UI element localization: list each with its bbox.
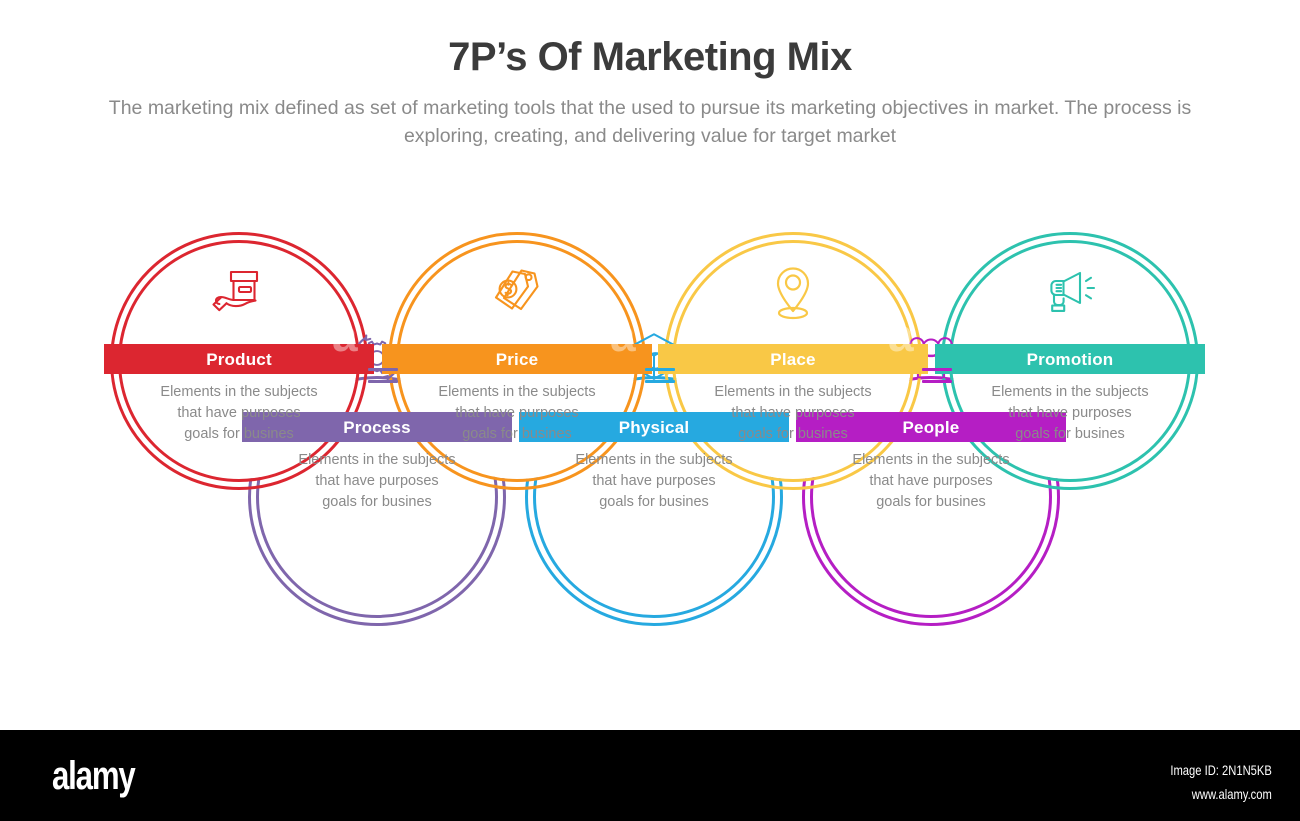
image-id-text: Image ID: 2N1N5KB bbox=[1171, 758, 1272, 782]
footer-meta: Image ID: 2N1N5KB www.alamy.com bbox=[1171, 758, 1272, 806]
node-description-line: goals for busines bbox=[276, 492, 478, 513]
node-description-line: that have purposes bbox=[969, 403, 1171, 424]
infographic-canvas: 7P’s Of Marketing Mix The marketing mix … bbox=[0, 0, 1300, 730]
connector-physical bbox=[645, 368, 675, 388]
node-banner-place[interactable]: Place bbox=[658, 344, 928, 374]
node-description-line: goals for busines bbox=[138, 424, 340, 445]
node-description-place: Elements in the subjectsthat have purpos… bbox=[692, 382, 894, 445]
hand-holding-box-icon bbox=[203, 258, 275, 330]
node-promotion[interactable]: PromotionElements in the subjectsthat ha… bbox=[941, 232, 1199, 490]
node-label-promotion: Promotion bbox=[1027, 351, 1114, 368]
node-label-place: Place bbox=[770, 351, 815, 368]
page-subtitle: The marketing mix defined as set of mark… bbox=[65, 94, 1235, 150]
megaphone-icon bbox=[1034, 258, 1106, 330]
node-product[interactable]: ProductElements in the subjectsthat have… bbox=[110, 232, 368, 490]
page-title: 7P’s Of Marketing Mix bbox=[0, 34, 1300, 80]
node-place[interactable]: PlaceElements in the subjectsthat have p… bbox=[664, 232, 922, 490]
node-label-product: Product bbox=[206, 351, 272, 368]
node-description-line: goals for busines bbox=[969, 424, 1171, 445]
header: 7P’s Of Marketing Mix The marketing mix … bbox=[0, 34, 1300, 150]
node-content-product: ProductElements in the subjectsthat have… bbox=[110, 232, 368, 490]
node-description-price: Elements in the subjectsthat have purpos… bbox=[416, 382, 618, 445]
node-description-line: Elements in the subjects bbox=[416, 382, 618, 403]
node-description-line: Elements in the subjects bbox=[138, 382, 340, 403]
node-description-line: goals for busines bbox=[830, 492, 1032, 513]
node-banner-product[interactable]: Product bbox=[104, 344, 374, 374]
website-text: www.alamy.com bbox=[1171, 782, 1272, 806]
node-description-line: that have purposes bbox=[416, 403, 618, 424]
node-label-price: Price bbox=[496, 351, 539, 368]
node-banner-promotion[interactable]: Promotion bbox=[935, 344, 1205, 374]
alamy-logo: alamy bbox=[52, 756, 135, 796]
node-content-place: PlaceElements in the subjectsthat have p… bbox=[664, 232, 922, 490]
footer-bar: alamy Image ID: 2N1N5KB www.alamy.com bbox=[0, 730, 1300, 821]
diagram-stage: ProcessElements in the subjectsthat have… bbox=[0, 200, 1300, 700]
node-description-line: goals for busines bbox=[692, 424, 894, 445]
connector-process bbox=[368, 368, 398, 388]
node-description-product: Elements in the subjectsthat have purpos… bbox=[138, 382, 340, 445]
node-price[interactable]: PriceElements in the subjectsthat have p… bbox=[388, 232, 646, 490]
node-description-line: goals for busines bbox=[416, 424, 618, 445]
node-content-promotion: PromotionElements in the subjectsthat ha… bbox=[941, 232, 1199, 490]
node-description-line: goals for busines bbox=[553, 492, 755, 513]
node-content-price: PriceElements in the subjectsthat have p… bbox=[388, 232, 646, 490]
node-description-line: that have purposes bbox=[138, 403, 340, 424]
node-description-line: Elements in the subjects bbox=[969, 382, 1171, 403]
map-pin-icon bbox=[757, 258, 829, 330]
node-banner-price[interactable]: Price bbox=[382, 344, 652, 374]
node-description-promotion: Elements in the subjectsthat have purpos… bbox=[969, 382, 1171, 445]
node-description-line: Elements in the subjects bbox=[692, 382, 894, 403]
node-description-line: that have purposes bbox=[692, 403, 894, 424]
connector-people bbox=[922, 368, 952, 388]
price-tag-dollar-icon bbox=[481, 258, 553, 330]
